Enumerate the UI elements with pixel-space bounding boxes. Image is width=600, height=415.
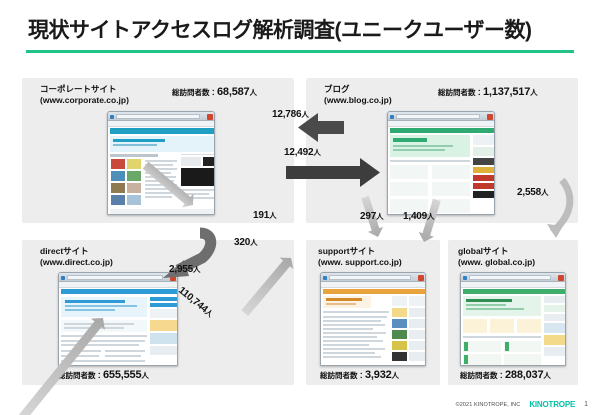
total-unit-global: 人 (543, 371, 551, 380)
flow-label-blog-to-global: 2,558人 (517, 187, 548, 198)
flow-label-corporate-to-blog: 12,492人 (284, 147, 321, 158)
total-label-support: 総訪問者数： (320, 371, 365, 380)
site-total-direct: 総訪問者数：655,555人 (58, 369, 149, 381)
page-body-direct (59, 288, 177, 366)
total-unit-direct: 人 (141, 371, 149, 380)
page-body-corporate (108, 127, 214, 215)
flow-label-blog-to-support: 297人 (360, 211, 383, 222)
thumbnail-blog[interactable] (387, 111, 495, 215)
flow-label-corporate-to-direct: 2,955人 (169, 264, 200, 275)
flow-unit-corporate-to-direct: 人 (193, 265, 200, 274)
browser-favicon-icon (110, 115, 114, 119)
flow-value-blog-to-support: 297 (360, 211, 376, 222)
flow-unit-corporate-to-blog: 人 (313, 148, 320, 157)
thumbnail-direct[interactable] (58, 272, 178, 366)
site-label-global: globalサイト (www. global.co.jp) (458, 246, 535, 268)
browser-favicon-icon (61, 276, 65, 280)
site-name-direct: directサイト (40, 246, 89, 256)
close-icon (418, 275, 424, 281)
total-label-corporate: 総訪問者数： (172, 88, 217, 97)
close-icon (170, 275, 176, 281)
close-icon (558, 275, 564, 281)
site-url-support: (www. support.co.jp) (318, 257, 402, 267)
page-title: 現状サイトアクセスログ解析調査(ユニークユーザー数) (0, 18, 600, 44)
title-accent-rule (26, 50, 574, 53)
total-value-blog: 1,137,517 (483, 86, 530, 98)
flow-value-blog-to-global: 2,558 (517, 187, 541, 198)
total-value-direct: 655,555 (103, 369, 141, 381)
flow-unit-blog-to-global: 人 (541, 188, 548, 197)
site-label-blog: ブログ (www.blog.co.jp) (324, 84, 392, 106)
page-number: 1 (584, 401, 588, 408)
flow-label-corporate-to-support: 320人 (234, 237, 257, 248)
site-total-corporate: 総訪問者数：68,587人 (172, 86, 257, 98)
site-name-blog: ブログ (324, 84, 350, 94)
total-unit-support: 人 (392, 371, 400, 380)
total-label-blog: 総訪問者数： (438, 88, 483, 97)
brand-logo: KINOTROPE (529, 400, 575, 409)
flow-value-blog-to-corporate: 12,786 (272, 109, 301, 120)
thumbnail-corporate[interactable] (107, 111, 215, 215)
flow-value-corporate-to-direct: 2,955 (169, 264, 193, 275)
flow-value-support-to-corporate: 191 (253, 210, 269, 221)
thumbnail-global[interactable] (460, 272, 566, 366)
browser-chrome (108, 112, 214, 121)
site-label-direct: directサイト (www.direct.co.jp) (40, 246, 113, 268)
browser-address-bar (67, 275, 163, 280)
site-label-corporate: コーポレートサイト (www.corporate.co.jp) (40, 84, 129, 106)
close-icon (487, 114, 493, 120)
flow-value-corporate-to-blog: 12,492 (284, 147, 313, 158)
page-body-blog (388, 127, 494, 215)
browser-chrome (388, 112, 494, 121)
site-name-global: globalサイト (458, 246, 509, 256)
site-url-global: (www. global.co.jp) (458, 257, 535, 267)
browser-favicon-icon (463, 276, 467, 280)
site-name-corporate: コーポレートサイト (40, 84, 117, 94)
site-name-support: supportサイト (318, 246, 375, 256)
flow-unit-corporate-to-support: 人 (250, 238, 257, 247)
site-url-blog: (www.blog.co.jp) (324, 95, 392, 105)
flow-label-support-to-corporate: 191人 (253, 210, 276, 221)
flow-unit-support-to-blog: 人 (427, 212, 434, 221)
total-label-direct: 総訪問者数： (58, 371, 103, 380)
slide-footer: ©2021 KINOTROPE, INC KINOTROPE 1 (456, 400, 588, 409)
browser-address-bar (469, 275, 551, 280)
copyright-text: ©2021 KINOTROPE, INC (456, 402, 521, 408)
site-total-support: 総訪問者数：3,932人 (320, 369, 399, 381)
total-unit-corporate: 人 (249, 88, 257, 97)
slide-canvas: 現状サイトアクセスログ解析調査(ユニークユーザー数) コーポレートサイト (ww… (0, 0, 600, 415)
total-unit-blog: 人 (530, 88, 538, 97)
flow-value-support-to-blog: 1,409 (403, 211, 427, 222)
total-label-global: 総訪問者数： (460, 371, 505, 380)
flow-label-support-to-blog: 1,409人 (403, 211, 434, 222)
site-url-corporate: (www.corporate.co.jp) (40, 95, 129, 105)
close-icon (207, 114, 213, 120)
site-total-global: 総訪問者数：288,037人 (460, 369, 551, 381)
total-value-support: 3,932 (365, 369, 392, 381)
flow-label-blog-to-corporate: 12,786人 (272, 109, 309, 120)
browser-chrome (461, 273, 565, 282)
browser-chrome (59, 273, 177, 282)
total-value-corporate: 68,587 (217, 86, 249, 98)
page-body-support (321, 288, 425, 366)
total-value-global: 288,037 (505, 369, 543, 381)
browser-favicon-icon (390, 115, 394, 119)
flow-value-corporate-to-support: 320 (234, 237, 250, 248)
browser-address-bar (396, 114, 480, 119)
title-block: 現状サイトアクセスログ解析調査(ユニークユーザー数) (0, 18, 600, 53)
flow-unit-blog-to-support: 人 (376, 212, 383, 221)
site-total-blog: 総訪問者数：1,137,517人 (438, 86, 538, 98)
browser-address-bar (116, 114, 200, 119)
browser-chrome (321, 273, 425, 282)
flow-unit-blog-to-corporate: 人 (301, 110, 308, 119)
site-url-direct: (www.direct.co.jp) (40, 257, 113, 267)
page-body-global (461, 288, 565, 366)
thumbnail-support[interactable] (320, 272, 426, 366)
site-label-support: supportサイト (www. support.co.jp) (318, 246, 402, 268)
browser-favicon-icon (323, 276, 327, 280)
flow-unit-support-to-corporate: 人 (269, 211, 276, 220)
browser-address-bar (329, 275, 411, 280)
